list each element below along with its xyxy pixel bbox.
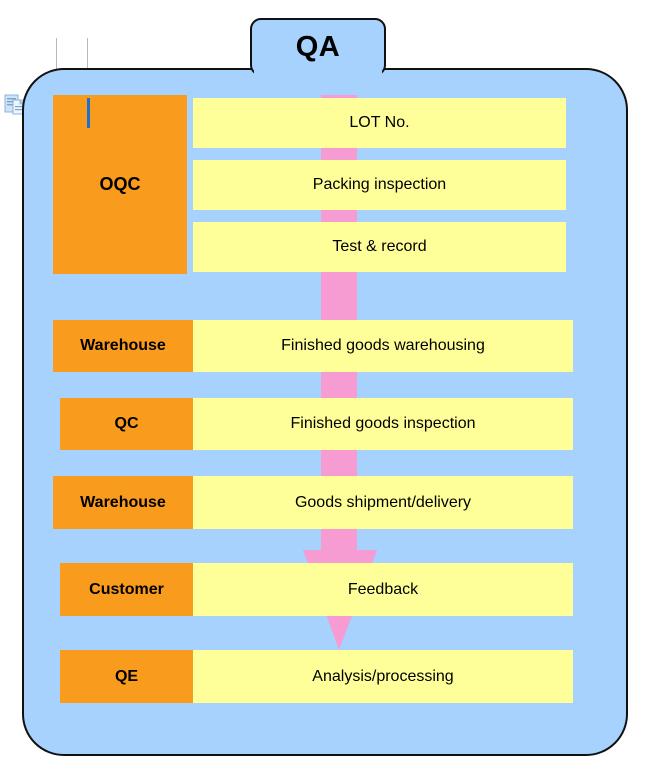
task-label: Finished goods warehousing: [281, 337, 485, 355]
task-label: Analysis/processing: [312, 668, 453, 686]
role-label: Customer: [89, 581, 164, 599]
task-box-feedback[interactable]: Feedback: [193, 563, 573, 616]
role-box-oqc[interactable]: OQC: [53, 95, 187, 274]
task-box-packing-inspection[interactable]: Packing inspection: [193, 160, 566, 210]
role-box-warehouse-1[interactable]: Warehouse: [53, 320, 193, 372]
task-label: LOT No.: [349, 114, 409, 132]
role-box-warehouse-2[interactable]: Warehouse: [53, 476, 193, 529]
text-cursor: [87, 98, 90, 128]
task-box-analysis-processing[interactable]: Analysis/processing: [193, 650, 573, 703]
role-box-customer[interactable]: Customer: [60, 563, 193, 616]
qa-tab-mask: [254, 66, 382, 78]
role-box-qc[interactable]: QC: [60, 398, 193, 450]
role-label: Warehouse: [80, 337, 166, 355]
task-label: Feedback: [348, 581, 418, 599]
crop-mark-vertical: [87, 38, 88, 69]
task-label: Goods shipment/delivery: [295, 494, 471, 512]
role-box-qe[interactable]: QE: [60, 650, 193, 703]
crop-mark: [56, 38, 89, 70]
task-box-test-record[interactable]: Test & record: [193, 222, 566, 272]
task-label: Test & record: [332, 238, 426, 256]
page-title: QA: [296, 31, 341, 64]
role-label: OQC: [99, 174, 140, 195]
task-box-goods-shipment-delivery[interactable]: Goods shipment/delivery: [193, 476, 573, 529]
role-label: QC: [115, 415, 139, 433]
task-box-finished-goods-warehousing[interactable]: Finished goods warehousing: [193, 320, 573, 372]
task-label: Packing inspection: [313, 176, 446, 194]
task-box-finished-goods-inspection[interactable]: Finished goods inspection: [193, 398, 573, 450]
task-box-lot-no[interactable]: LOT No.: [193, 98, 566, 148]
task-label: Finished goods inspection: [290, 415, 475, 433]
role-label: Warehouse: [80, 494, 166, 512]
diagram-canvas: QA OQC LOT No. Packing inspection Test &…: [0, 0, 645, 764]
role-label: QE: [115, 668, 138, 686]
